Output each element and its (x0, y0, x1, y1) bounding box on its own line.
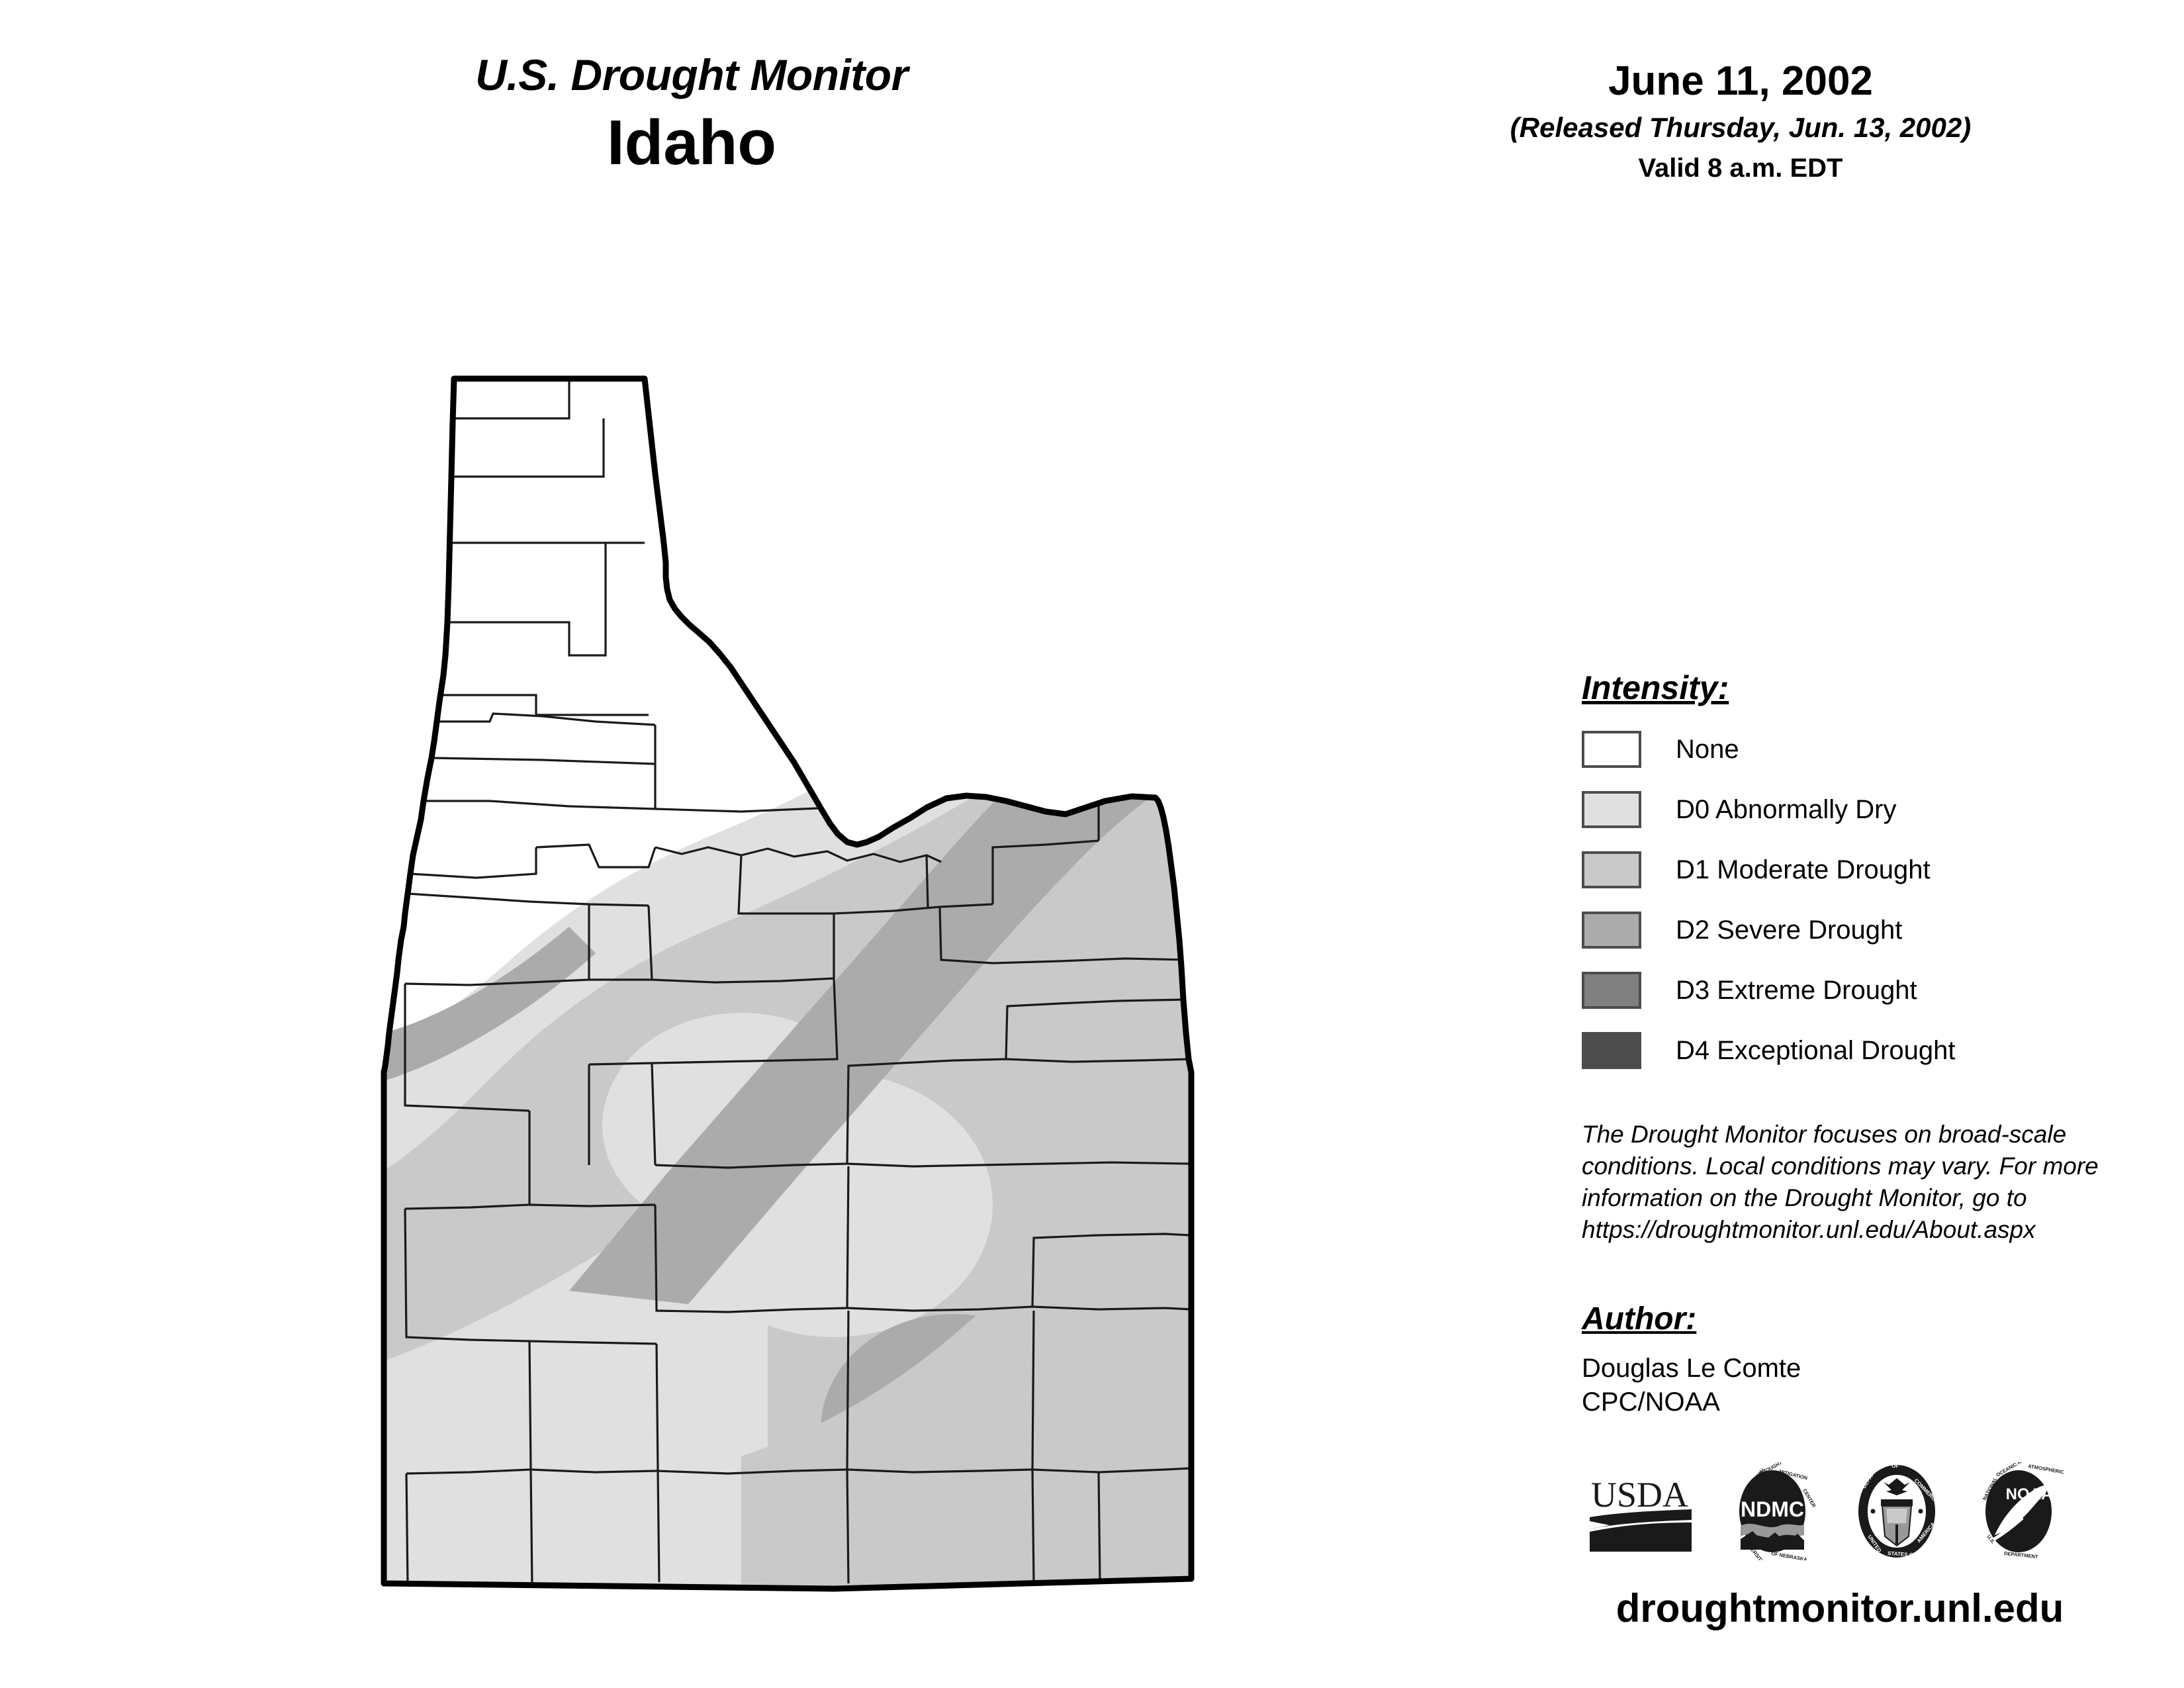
ndmc-logo: NDMC NATIONAL DROUGHT MITIGATION CENTER … (1723, 1462, 1821, 1560)
author-title: Author: (1582, 1301, 1696, 1337)
valid-time: Valid 8 a.m. EDT (1410, 154, 2071, 182)
legend-swatch-d1 (1582, 851, 1641, 888)
legend-item-d2[interactable]: D2 Severe Drought (1582, 906, 2085, 954)
legend-label-none: None (1676, 736, 1739, 763)
date-block: June 11, 2002 (Released Thursday, Jun. 1… (1410, 60, 2071, 182)
legend-item-none[interactable]: None (1582, 726, 2085, 773)
footer-url[interactable]: droughtmonitor.unl.edu (1542, 1585, 2138, 1631)
svg-text:OF NEBRASKA: OF NEBRASKA (1771, 1550, 1808, 1560)
legend-label-d4: D4 Exceptional Drought (1676, 1037, 1955, 1064)
legend-label-d2: D2 Severe Drought (1676, 917, 1902, 943)
svg-text:DEPARTMENT: DEPARTMENT (2004, 1550, 2039, 1560)
legend-swatch-d0 (1582, 791, 1641, 828)
title-block: U.S. Drought Monitor Idaho (344, 53, 1039, 177)
svg-text:NOAA: NOAA (2006, 1485, 2053, 1503)
svg-text:NDMC: NDMC (1741, 1497, 1804, 1521)
release-date: (Released Thursday, Jun. 13, 2002) (1410, 113, 2071, 142)
legend-swatch-none (1582, 731, 1641, 768)
svg-text:USDA: USDA (1591, 1475, 1688, 1515)
idaho-drought-map (371, 344, 1218, 1615)
page-title: U.S. Drought Monitor (344, 53, 1039, 97)
legend-swatch-d4 (1582, 1032, 1641, 1069)
legend-title: Intensity: (1582, 669, 1729, 707)
usda-logo: USDA (1588, 1468, 1694, 1554)
svg-text:ATMOSPHERIC: ATMOSPHERIC (2028, 1463, 2065, 1475)
legend-item-d4[interactable]: D4 Exceptional Drought (1582, 1027, 2085, 1074)
author-block: Author: Douglas Le Comte CPC/NOAA (1582, 1301, 2111, 1419)
legend-item-d3[interactable]: D3 Extreme Drought (1582, 966, 2085, 1014)
legend-item-d0[interactable]: D0 Abnormally Dry (1582, 786, 2085, 833)
legend-label-d0: D0 Abnormally Dry (1676, 796, 1896, 823)
legend-swatch-d3 (1582, 972, 1641, 1009)
valid-date: June 11, 2002 (1410, 60, 2071, 103)
map-svg (371, 344, 1218, 1615)
disclaimer-text: The Drought Monitor focuses on broad-sca… (1582, 1119, 2164, 1246)
legend-label-d3: D3 Extreme Drought (1676, 977, 1917, 1004)
author-name: Douglas Le Comte (1582, 1352, 2111, 1385)
svg-text:OF: OF (1891, 1463, 1899, 1469)
legend-swatch-d2 (1582, 912, 1641, 949)
legend-item-d1[interactable]: D1 Moderate Drought (1582, 846, 2085, 894)
legend: Intensity: None D0 Abnormally Dry D1 Mod… (1582, 669, 2085, 1087)
state-title: Idaho (344, 110, 1039, 177)
noaa-logo: NOAA NATIONAL OCEANIC AND ATMOSPHERIC U.… (1972, 1462, 2065, 1560)
department-of-commerce-logo: DEPARTMENT OF COMMERCE UNITED STATES OF … (1850, 1462, 1943, 1560)
author-affiliation: CPC/NOAA (1582, 1385, 2111, 1419)
legend-label-d1: D1 Moderate Drought (1676, 857, 1931, 883)
logo-row: USDA NDMC NATIONAL DROUGHT MITIGATION CE… (1588, 1453, 2118, 1569)
